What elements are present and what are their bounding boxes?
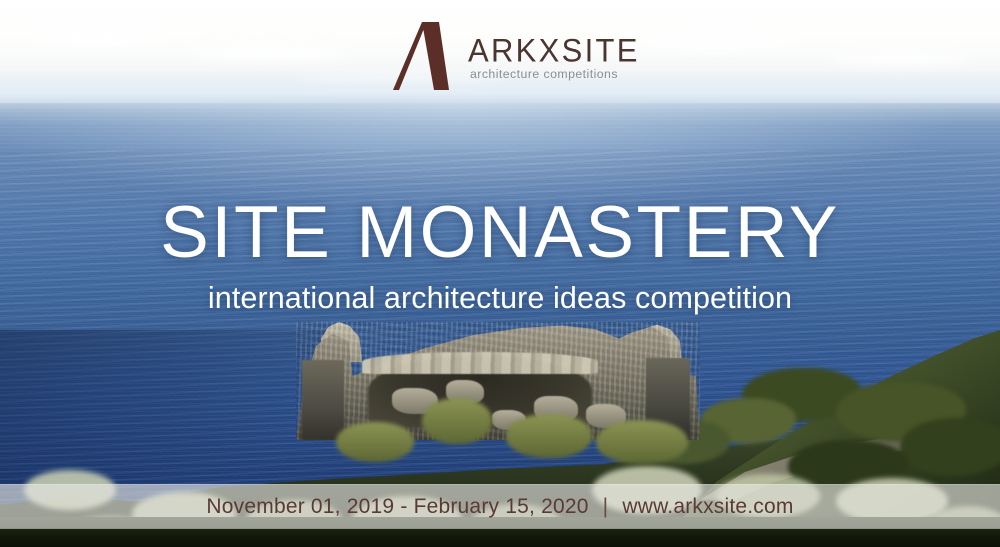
footer-info-bar: November 01, 2019 - February 15, 2020 | … bbox=[0, 484, 1000, 529]
ruin-arch-stones bbox=[362, 352, 598, 374]
cloud-shape bbox=[640, 34, 790, 49]
monastery-ruins bbox=[296, 322, 700, 457]
logo-wordmark: ARKXSITE bbox=[468, 34, 640, 67]
page-title: SITEMONASTERY bbox=[0, 196, 1000, 269]
cloud-shape bbox=[40, 28, 160, 44]
headline-block: SITEMONASTERY international architecture… bbox=[0, 196, 1000, 314]
website-link[interactable]: www.arkxsite.com bbox=[622, 495, 793, 518]
ruin-pillar-left bbox=[302, 360, 344, 440]
cloud-shape bbox=[190, 46, 350, 60]
page-subtitle: international architecture ideas competi… bbox=[0, 283, 1000, 314]
ruin-interior-vegetation bbox=[506, 414, 592, 458]
title-word-site: SITE bbox=[160, 192, 332, 273]
poster-canvas: ARKXSITE architecture competitions SITEM… bbox=[0, 0, 1000, 547]
logo-typography: ARKXSITE architecture competitions bbox=[468, 31, 640, 80]
competition-end-date: February 15, 2020 bbox=[414, 495, 589, 518]
date-range-dash: - bbox=[400, 495, 407, 518]
arkxsite-a-mark-icon bbox=[389, 20, 455, 92]
footer-separator: | bbox=[595, 495, 617, 518]
ruin-interior-vegetation bbox=[336, 422, 414, 462]
footer-dates-and-url: November 01, 2019 - February 15, 2020 | … bbox=[206, 496, 793, 517]
competition-start-date: November 01, 2019 bbox=[206, 495, 394, 518]
cloud-shape bbox=[830, 52, 970, 65]
ruin-interior-vegetation bbox=[422, 398, 492, 444]
ruin-interior-vegetation bbox=[596, 420, 688, 464]
arkxsite-logo[interactable]: ARKXSITE architecture competitions bbox=[389, 20, 625, 92]
title-word-monastery: MONASTERY bbox=[356, 192, 840, 273]
scrub-bush bbox=[900, 418, 1000, 476]
logo-tagline: architecture competitions bbox=[468, 68, 640, 80]
